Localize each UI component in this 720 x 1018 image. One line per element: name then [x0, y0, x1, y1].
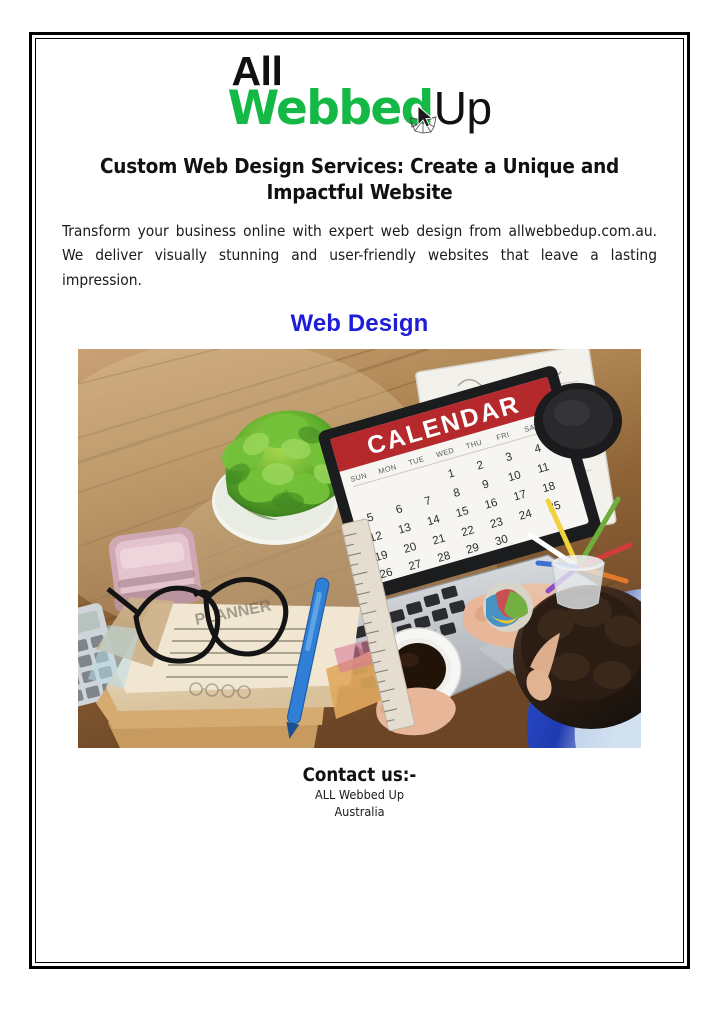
- document-page-inner-border: All WebbedUp: [35, 38, 684, 963]
- brand-logo: All WebbedUp: [60, 53, 659, 149]
- brand-logo-webbed-text: Webbed: [227, 81, 432, 136]
- contact-block: Contact us:- ALL Webbed Up Australia: [60, 764, 659, 820]
- brand-logo-stack: All WebbedUp: [227, 53, 491, 130]
- document-page-frame: All WebbedUp: [29, 32, 690, 969]
- contact-company: ALL Webbed Up: [60, 787, 659, 804]
- brand-logo-up-text: Up: [434, 82, 492, 134]
- intro-paragraph: Transform your business online with expe…: [62, 219, 657, 292]
- contact-heading: Contact us:-: [60, 764, 659, 787]
- page-headline: Custom Web Design Services: Create a Uni…: [62, 153, 657, 205]
- hero-photo-illustration: CALENDAR SUNMON TUEWED THUFRI SAT: [78, 349, 641, 748]
- hero-photo-container: CALENDAR SUNMON TUEWED THUFRI SAT: [60, 349, 659, 753]
- photo-dark-mug: [534, 383, 622, 459]
- photo-patterned-ball: [483, 582, 533, 632]
- hero-photo-desk-workspace: CALENDAR SUNMON TUEWED THUFRI SAT: [78, 349, 641, 748]
- contact-country: Australia: [60, 804, 659, 821]
- document-content: All WebbedUp: [36, 39, 683, 962]
- brand-logo-second-line: WebbedUp: [227, 87, 491, 130]
- section-subtitle: Web Design: [60, 310, 659, 338]
